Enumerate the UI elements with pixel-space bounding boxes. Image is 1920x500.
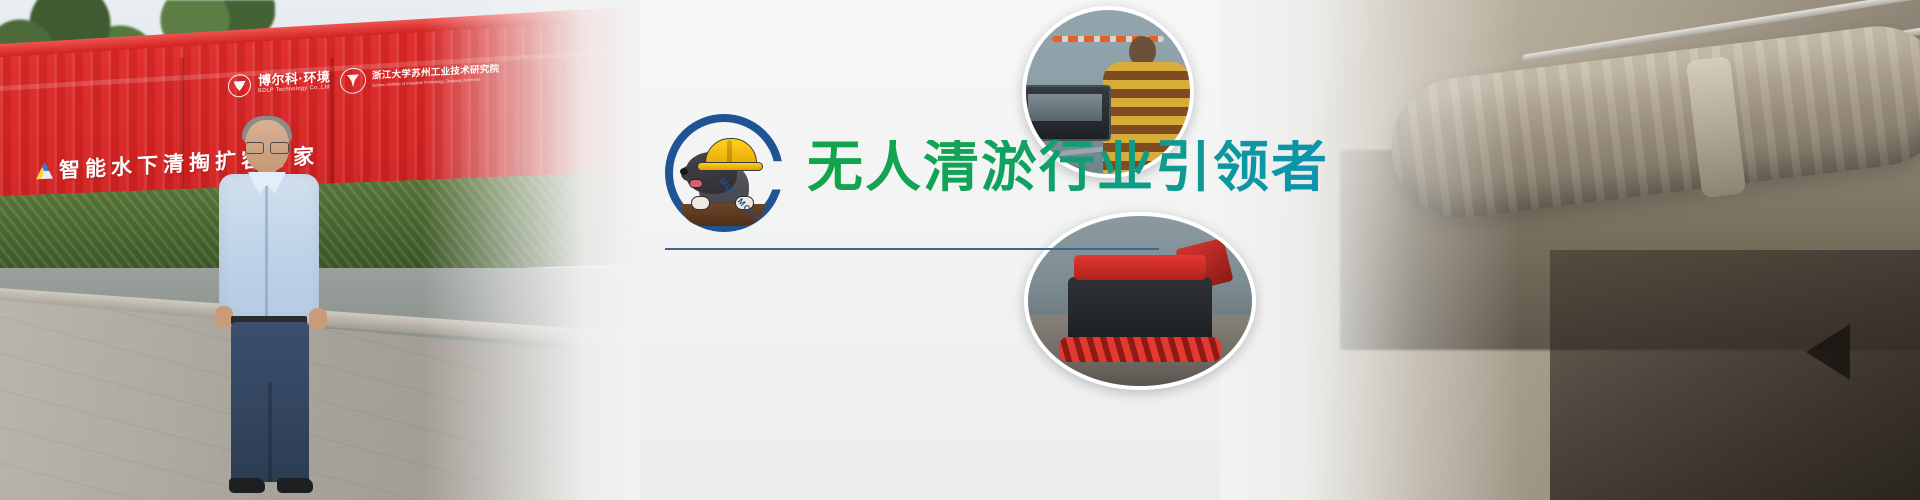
left-photo-fade: [0, 0, 640, 500]
arrow-icon: [1806, 324, 1850, 380]
mole-mouth: [689, 179, 703, 188]
hard-hat-brim: [697, 162, 763, 171]
mole-nose: [680, 168, 688, 175]
right-photo-fade: [1220, 0, 1520, 500]
hero-banner: 博尔科·环境 BDLP Technology Co.,Ltd 浙江大学苏州工业技…: [0, 0, 1920, 500]
shadow-overlay: [1550, 250, 1920, 500]
page-title: 无人清淤行业引领者: [807, 140, 1329, 196]
right-photo-group: [1220, 0, 1920, 500]
company-logo: MUD MOLE: [665, 114, 783, 232]
left-photo: 博尔科·环境 BDLP Technology Co.,Ltd 浙江大学苏州工业技…: [0, 0, 640, 500]
brand-block: MUD MOLE 无人清淤行业引领者: [665, 112, 1185, 257]
hard-hat-rib: [727, 140, 732, 164]
auger-head: [1059, 337, 1220, 363]
divider: [665, 248, 1159, 250]
dredging-robot-body: [1068, 277, 1211, 342]
